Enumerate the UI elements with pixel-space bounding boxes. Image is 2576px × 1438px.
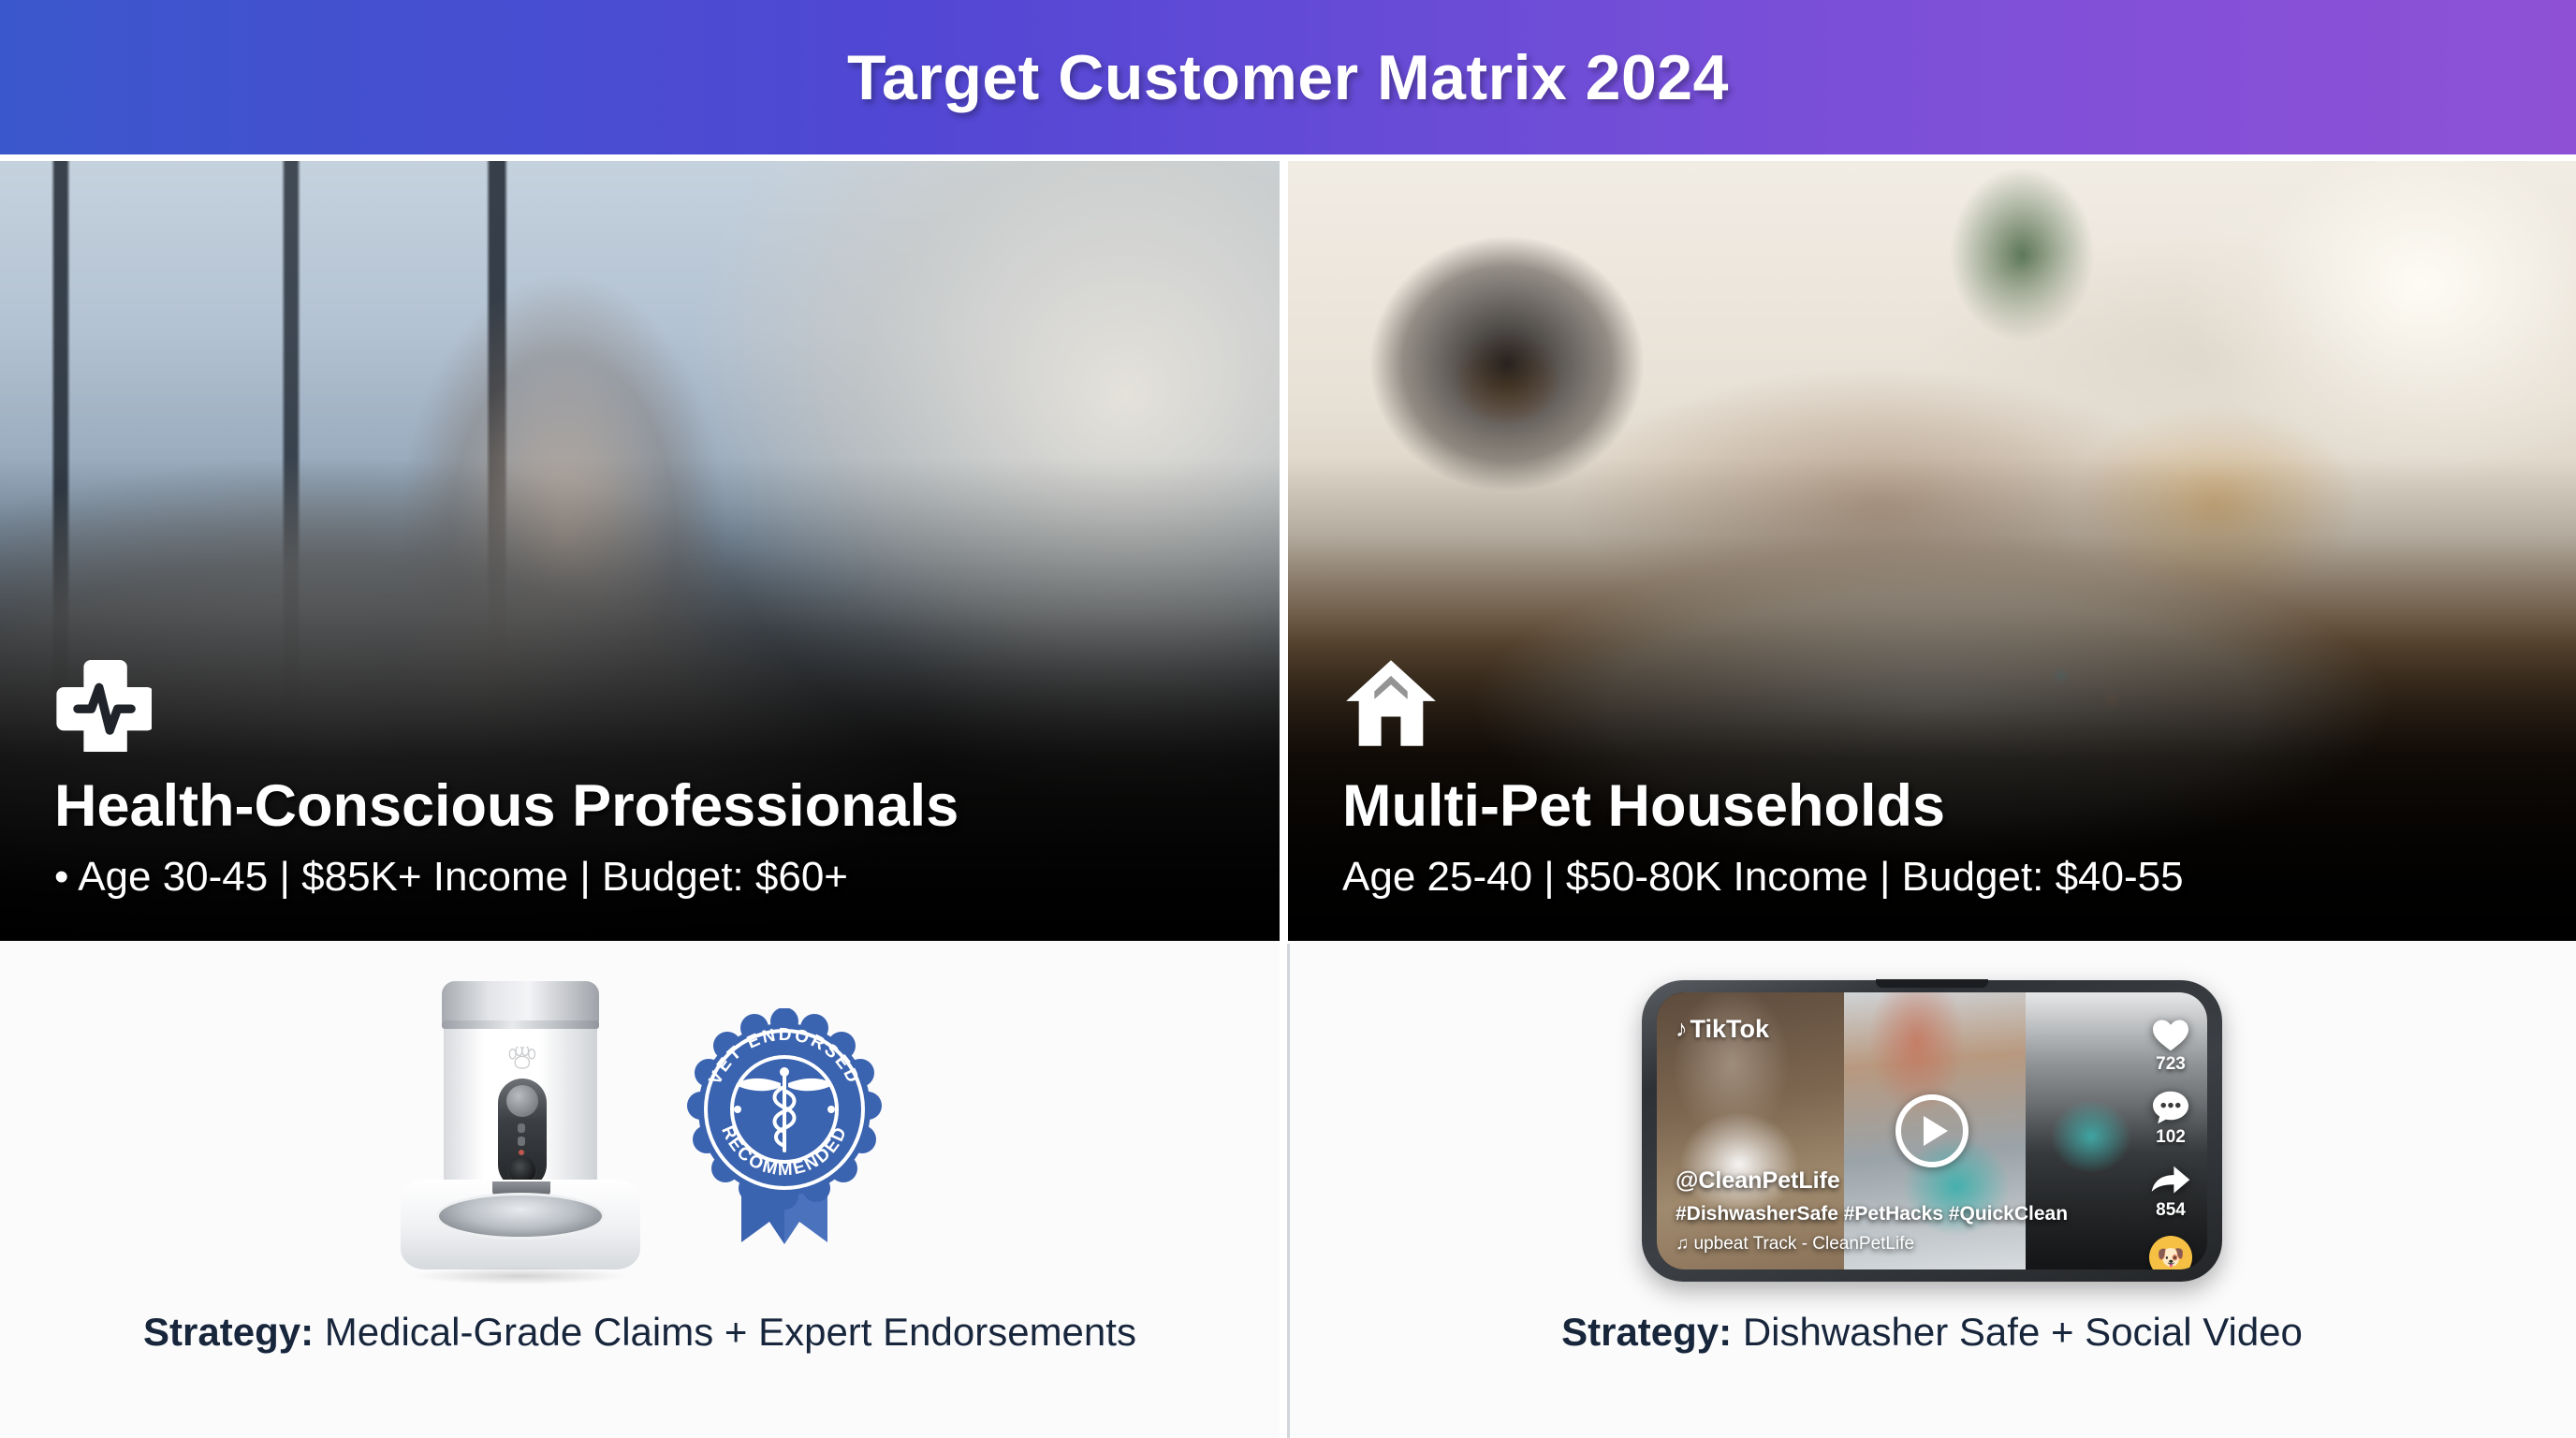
persona-title: Multi-Pet Households <box>1342 776 2520 838</box>
tiktok-app-name: TikTok <box>1690 1015 1770 1044</box>
strategy-panel-multi-pet-households: ♪ TikTok @CleanPetLife #DishwasherSafe #… <box>1288 941 2576 1438</box>
persona-demographics: • Age 30-45 | $85K+ Income | Budget: $60… <box>54 854 1223 902</box>
play-button[interactable] <box>1895 1094 1969 1167</box>
tiktok-handle[interactable]: @CleanPetLife <box>1676 1167 2068 1195</box>
strategy-text: Medical-Grade Claims + Expert Endorsemen… <box>325 1310 1136 1354</box>
matrix-column-health-conscious-professionals: Health-Conscious Professionals • Age 30-… <box>0 161 1288 1438</box>
music-note-icon: ♪ <box>1676 1018 1688 1041</box>
share-arrow-icon[interactable] <box>2150 1163 2191 1198</box>
share-count: 854 <box>2156 1200 2186 1221</box>
persona-overlay: Multi-Pet Households Age 25-40 | $50-80K… <box>1288 654 2576 941</box>
strategy-visual-product-feeder: VET ENDORSED RECOMMENDED <box>0 958 1280 1304</box>
tiktok-logo: ♪ TikTok <box>1676 1015 1769 1044</box>
persona-panel-multi-pet-households: Multi-Pet Households Age 25-40 | $50-80K… <box>1288 161 2576 941</box>
vet-endorsed-badge: VET ENDORSED RECOMMENDED <box>683 1008 885 1254</box>
persona-title: Health-Conscious Professionals <box>54 776 1223 838</box>
strategy-label: Strategy: <box>1561 1310 1732 1354</box>
smart-pet-feeder-product-image <box>395 981 646 1281</box>
tiktok-music-track[interactable]: ♫ upbeat Track - CleanPetLife <box>1676 1234 2068 1255</box>
medical-cross-pulse-icon <box>54 654 152 752</box>
infographic-page: Target Customer Matrix 2024 Health-Consc… <box>0 0 2576 1438</box>
strategy-caption: Strategy: Dishwasher Safe + Social Video <box>1561 1310 2303 1355</box>
comment-count: 102 <box>2156 1127 2186 1148</box>
phone-notch <box>1876 979 1988 988</box>
house-icon <box>1342 654 1440 752</box>
phone-screen: ♪ TikTok @CleanPetLife #DishwasherSafe #… <box>1657 992 2207 1269</box>
tiktok-action-rail: 723 102 854 🐶 <box>2149 1017 2192 1269</box>
customer-matrix: Health-Conscious Professionals • Age 30-… <box>0 161 2576 1438</box>
strategy-panel-health-conscious-professionals: VET ENDORSED RECOMMENDED <box>0 941 1280 1438</box>
page-title: Target Customer Matrix 2024 <box>847 41 1729 114</box>
tiktok-caption-block: @CleanPetLife #DishwasherSafe #PetHacks … <box>1676 1167 2068 1255</box>
persona-demographics: Age 25-40 | $50-80K Income | Budget: $40… <box>1342 854 2520 902</box>
strategy-caption: Strategy: Medical-Grade Claims + Expert … <box>143 1310 1136 1355</box>
tiktok-hashtags[interactable]: #DishwasherSafe #PetHacks #QuickClean <box>1676 1203 2068 1225</box>
strategy-label: Strategy: <box>143 1310 314 1354</box>
heart-icon[interactable] <box>2151 1017 2190 1052</box>
persona-overlay: Health-Conscious Professionals • Age 30-… <box>0 654 1280 941</box>
paw-print-icon <box>505 1047 537 1069</box>
strategy-visual-phone-mockup: ♪ TikTok @CleanPetLife #DishwasherSafe #… <box>1288 958 2576 1304</box>
comment-icon[interactable] <box>2151 1090 2190 1125</box>
play-triangle-icon <box>1924 1116 1948 1146</box>
matrix-column-multi-pet-households: Multi-Pet Households Age 25-40 | $50-80K… <box>1288 161 2576 1438</box>
tiktok-phone-mockup: ♪ TikTok @CleanPetLife #DishwasherSafe #… <box>1642 980 2222 1282</box>
page-header: Target Customer Matrix 2024 <box>0 0 2576 154</box>
strategy-text: Dishwasher Safe + Social Video <box>1743 1310 2303 1354</box>
persona-panel-health-conscious-professionals: Health-Conscious Professionals • Age 30-… <box>0 161 1280 941</box>
like-count: 723 <box>2156 1054 2186 1075</box>
column-divider <box>1287 944 1290 1438</box>
avatar[interactable]: 🐶 <box>2149 1236 2192 1269</box>
